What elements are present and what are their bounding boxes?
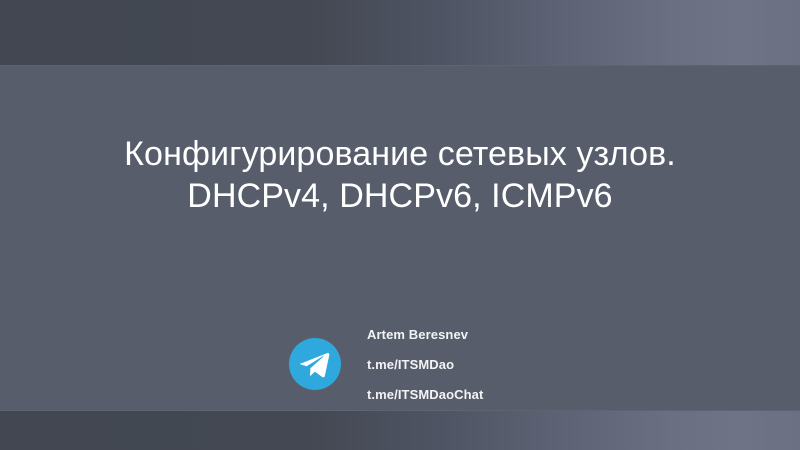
title-line-2: DHCPv4, DHCPv6, ICMPv6 <box>0 175 800 217</box>
author-name: Artem Beresnev <box>367 320 607 350</box>
telegram-icon <box>289 338 341 390</box>
presentation-slide: Конфигурирование сетевых узлов. DHCPv4, … <box>0 0 800 450</box>
telegram-channel-link[interactable]: t.me/ITSMDao <box>367 350 607 380</box>
slide-title: Конфигурирование сетевых узлов. DHCPv4, … <box>0 133 800 217</box>
top-band-divider <box>0 65 800 66</box>
bottom-gradient-band <box>0 411 800 450</box>
telegram-chat-link[interactable]: t.me/ITSMDaoChat <box>367 380 607 410</box>
title-line-1: Конфигурирование сетевых узлов. <box>0 133 800 175</box>
top-gradient-band <box>0 0 800 65</box>
author-contact-block: Artem Beresnev t.me/ITSMDao t.me/ITSMDao… <box>286 320 606 410</box>
contact-lines: Artem Beresnev t.me/ITSMDao t.me/ITSMDao… <box>367 320 607 410</box>
